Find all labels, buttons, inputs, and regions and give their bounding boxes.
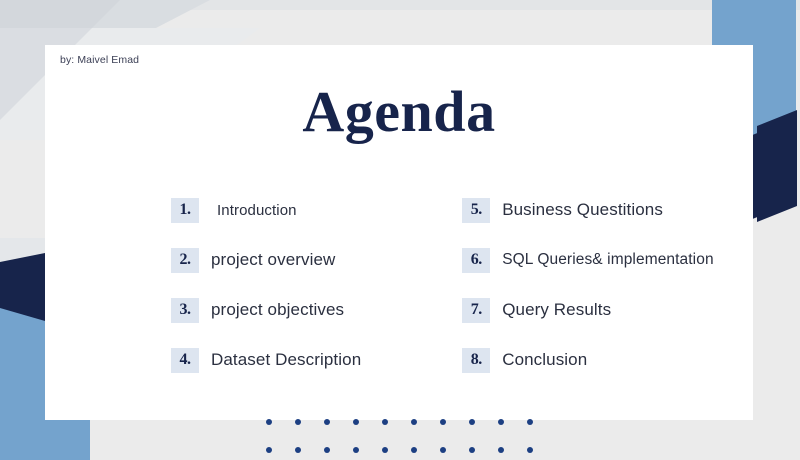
- decorative-dot: [353, 419, 359, 425]
- agenda-item-4[interactable]: 4. Dataset Description: [171, 335, 450, 385]
- agenda-item-label: Conclusion: [502, 350, 587, 370]
- decorative-dot: [324, 419, 330, 425]
- agenda-item-label: Dataset Description: [211, 350, 361, 370]
- agenda-item-5[interactable]: 5. Business Questitions: [462, 185, 753, 235]
- decorative-dot: [353, 447, 359, 453]
- decorative-dot: [295, 419, 301, 425]
- agenda-column-right: 5. Business Questitions 6. SQL Queries& …: [462, 185, 753, 385]
- content-card: by: Maivel Emad Agenda 1. Introduction 2…: [45, 45, 753, 420]
- agenda-number-badge: 5.: [462, 198, 490, 223]
- decorative-dot: [324, 447, 330, 453]
- agenda-number-badge: 2.: [171, 248, 199, 273]
- decorative-dot: [440, 447, 446, 453]
- agenda-number-badge: 3.: [171, 298, 199, 323]
- agenda-item-6[interactable]: 6. SQL Queries& implementation: [462, 235, 753, 285]
- dot-grid-decoration: [266, 419, 546, 460]
- bottom-left-navy-block-shape: [0, 252, 50, 338]
- slide-canvas: by: Maivel Emad Agenda 1. Introduction 2…: [0, 0, 800, 460]
- agenda-item-label: Business Questitions: [502, 200, 663, 220]
- agenda-item-8[interactable]: 8. Conclusion: [462, 335, 753, 385]
- agenda-item-3[interactable]: 3. project objectives: [171, 285, 450, 335]
- decorative-dot: [266, 419, 272, 425]
- agenda-list: 1. Introduction 2. project overview 3. p…: [45, 185, 753, 385]
- agenda-item-7[interactable]: 7. Query Results: [462, 285, 753, 335]
- agenda-item-label: Query Results: [502, 300, 611, 320]
- agenda-item-label: SQL Queries& implementation: [502, 251, 713, 269]
- decorative-dot: [527, 419, 533, 425]
- agenda-number-badge: 8.: [462, 348, 490, 373]
- decorative-dot: [382, 419, 388, 425]
- decorative-dot: [411, 419, 417, 425]
- decorative-dot: [498, 447, 504, 453]
- agenda-number-badge: 4.: [171, 348, 199, 373]
- top-right-navy-block-shape: [757, 110, 797, 222]
- decorative-dot: [295, 447, 301, 453]
- decorative-dot: [411, 447, 417, 453]
- decorative-dot: [469, 447, 475, 453]
- decorative-dot: [440, 419, 446, 425]
- decorative-dot: [469, 419, 475, 425]
- agenda-number-badge: 7.: [462, 298, 490, 323]
- agenda-item-1[interactable]: 1. Introduction: [171, 185, 450, 235]
- agenda-item-label: project overview: [211, 250, 335, 270]
- agenda-item-2[interactable]: 2. project overview: [171, 235, 450, 285]
- agenda-item-label: project objectives: [211, 300, 344, 320]
- decorative-dot: [527, 447, 533, 453]
- page-title: Agenda: [45, 83, 753, 141]
- agenda-column-left: 1. Introduction 2. project overview 3. p…: [171, 185, 450, 385]
- decorative-dot: [498, 419, 504, 425]
- decorative-dot: [382, 447, 388, 453]
- agenda-number-badge: 1.: [171, 198, 199, 223]
- top-edge-strip-shape: [0, 0, 800, 10]
- agenda-item-label: Introduction: [217, 202, 297, 219]
- agenda-number-badge: 6.: [462, 248, 490, 273]
- decorative-dot: [266, 447, 272, 453]
- author-byline: by: Maivel Emad: [60, 54, 139, 66]
